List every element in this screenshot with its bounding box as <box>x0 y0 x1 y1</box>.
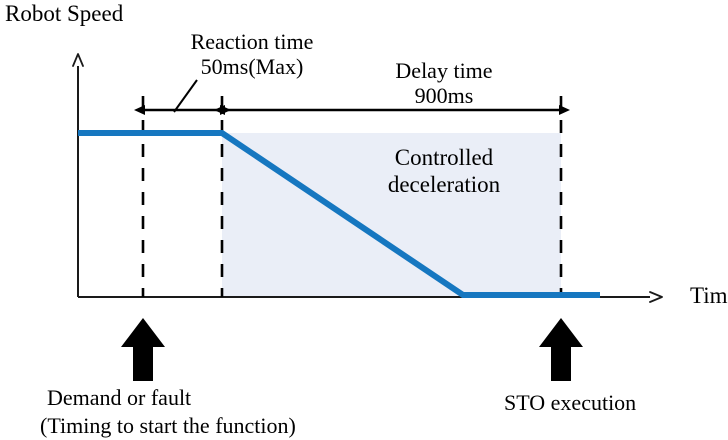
delay-time-label-line2: 900ms <box>415 83 474 108</box>
reaction-time-label-line2: 50ms(Max) <box>201 54 304 79</box>
reaction-time-label-line1: Reaction time <box>191 29 314 54</box>
controlled-deceleration-region <box>222 133 561 297</box>
x-axis-label: Time <box>690 283 728 308</box>
demand-event-arrow-icon <box>121 318 165 381</box>
delay-time-label-line1: Delay time <box>395 58 492 83</box>
sto-event-arrow-icon <box>539 318 583 381</box>
reaction-time-leader-line <box>174 80 197 112</box>
timing-diagram: Robot Speed Time Reaction time 50ms(Max)… <box>0 0 728 440</box>
demand-caption-line2: (Timing to start the function) <box>40 413 296 438</box>
speed-time-chart: Robot Speed Time Reaction time 50ms(Max)… <box>0 0 728 440</box>
demand-caption-line1: Demand or fault <box>47 385 191 410</box>
y-axis-label: Robot Speed <box>5 1 124 26</box>
controlled-deceleration-label-line1: Controlled <box>395 145 494 170</box>
controlled-deceleration-label-line2: deceleration <box>388 172 501 197</box>
sto-caption-line1: STO execution <box>504 390 636 415</box>
